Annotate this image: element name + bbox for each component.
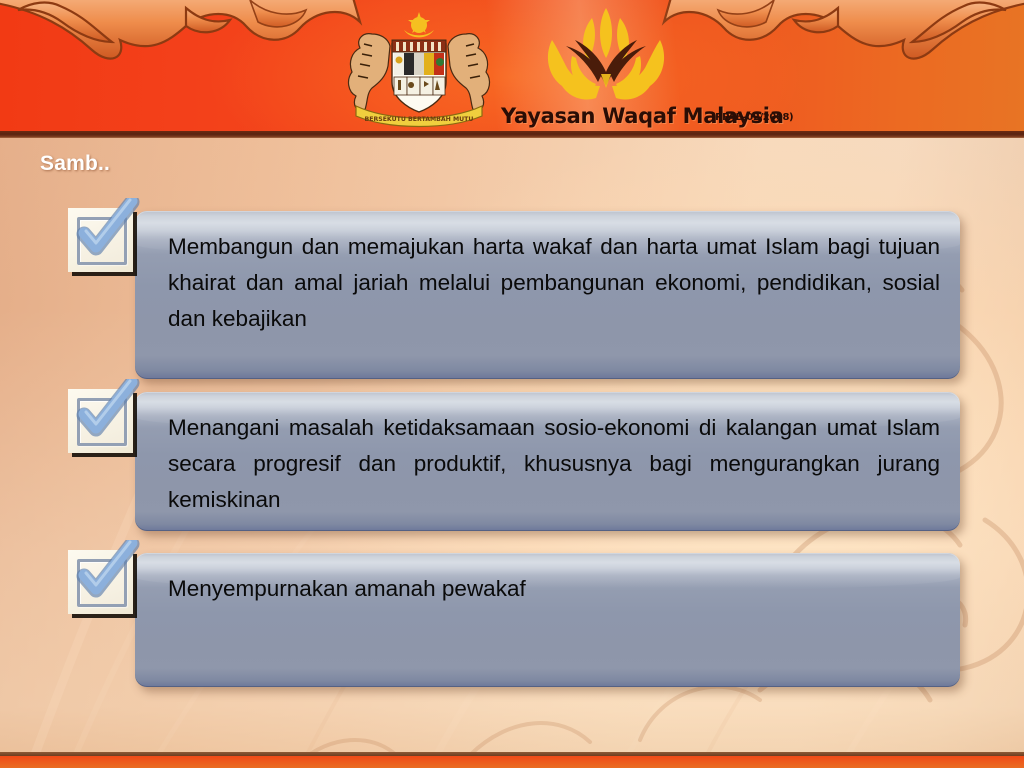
svg-text:BERSEKUTU BERTAMBAH MUTU: BERSEKUTU BERTAMBAH MUTU [365,116,474,123]
slide-footer-bar [0,756,1024,768]
ywm-lotus-logo-icon [548,8,664,100]
content-box-text: Menyempurnakan amanah pewakaf [168,571,940,607]
header-bottom-border [0,131,1024,138]
content-box-text: Menangani masalah ketidaksamaan sosio-ek… [168,410,940,518]
checkbox-frame [77,217,127,265]
content-box-text: Membangun dan memajukan harta wakaf dan … [168,229,940,337]
malaysia-coat-of-arms-icon: BERSEKUTU BERTAMBAH MUTU [349,12,490,127]
checkbox-frame [77,398,127,446]
content-box: Menyempurnakan amanah pewakaf [135,553,960,687]
content-box: Menangani masalah ketidaksamaan sosio-ek… [135,392,960,531]
checkbox-checked-icon [68,389,133,453]
checkbox-checked-icon [68,550,133,614]
organization-registration-number: (PPAB-02/2008) [711,112,793,123]
slide-continuation-label: Samb.. [40,152,110,176]
presentation-slide: BERSEKUTU BERTAMBAH MUTU [0,0,1024,768]
checkbox-frame [77,559,127,607]
content-box: Membangun dan memajukan harta wakaf dan … [135,211,960,379]
slide-header-banner: BERSEKUTU BERTAMBAH MUTU [0,0,1024,133]
checkbox-checked-icon [68,208,133,272]
